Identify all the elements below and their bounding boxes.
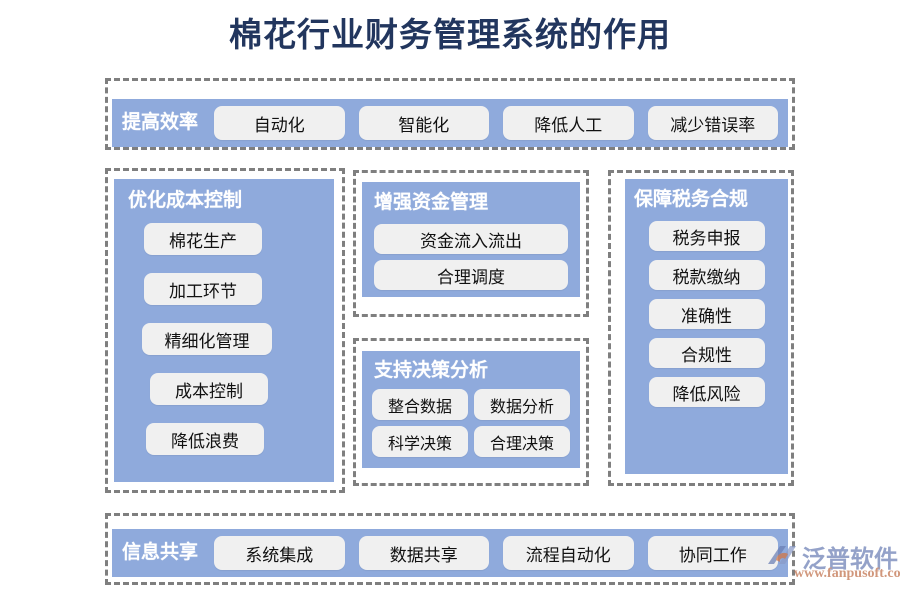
- brand-watermark: 泛普软件 www.fanpusoft.com: [766, 538, 896, 596]
- list-item[interactable]: 科学决策: [372, 426, 468, 457]
- list-item[interactable]: 降低浪费: [146, 423, 264, 455]
- brand-url: www.fanpusoft.com: [794, 566, 900, 582]
- list-item[interactable]: 资金流入流出: [374, 224, 568, 254]
- list-item[interactable]: 系统集成: [214, 536, 345, 570]
- section-heading-information-sharing: 信息共享: [122, 541, 198, 565]
- list-item[interactable]: 自动化: [214, 106, 345, 140]
- list-item[interactable]: 合规性: [649, 338, 765, 368]
- list-item[interactable]: 精细化管理: [142, 323, 272, 355]
- list-decision-analysis: 整合数据 数据分析 科学决策 合理决策: [372, 389, 570, 457]
- list-tax-compliance: 税务申报 税款缴纳 准确性 合规性 降低风险: [625, 221, 788, 407]
- list-item[interactable]: 税务申报: [649, 221, 765, 251]
- list-item[interactable]: 加工环节: [144, 273, 262, 305]
- list-item[interactable]: 准确性: [649, 299, 765, 329]
- section-information-sharing: 信息共享 系统集成 数据共享 流程自动化 协同工作: [112, 529, 788, 577]
- section-heading-tax-compliance: 保障税务合规: [634, 188, 748, 212]
- list-item[interactable]: 降低风险: [649, 377, 765, 407]
- list-item[interactable]: 合理调度: [374, 260, 568, 290]
- page-title: 棉花行业财务管理系统的作用: [0, 14, 900, 56]
- list-item[interactable]: 数据分析: [474, 389, 570, 420]
- section-fund-management: 增强资金管理 资金流入流出 合理调度: [362, 182, 580, 297]
- section-heading-fund-management: 增强资金管理: [374, 191, 488, 215]
- list-item[interactable]: 整合数据: [372, 389, 468, 420]
- list-item[interactable]: 税款缴纳: [649, 260, 765, 290]
- section-heading-efficiency: 提高效率: [122, 111, 198, 135]
- list-item[interactable]: 流程自动化: [503, 536, 634, 570]
- section-efficiency: 提高效率 自动化 智能化 降低人工 减少错误率: [112, 99, 788, 147]
- list-item[interactable]: 合理决策: [474, 426, 570, 457]
- section-decision-analysis: 支持决策分析 整合数据 数据分析 科学决策 合理决策: [362, 351, 580, 468]
- section-heading-decision-analysis: 支持决策分析: [374, 359, 488, 383]
- list-item[interactable]: 棉花生产: [144, 223, 262, 255]
- list-item[interactable]: 降低人工: [503, 106, 634, 140]
- list-cost-control: 棉花生产 加工环节 精细化管理 成本控制 降低浪费: [114, 223, 334, 455]
- section-cost-control: 优化成本控制 棉花生产 加工环节 精细化管理 成本控制 降低浪费: [114, 179, 334, 482]
- section-tax-compliance: 保障税务合规 税务申报 税款缴纳 准确性 合规性 降低风险: [625, 179, 788, 474]
- list-item[interactable]: 成本控制: [150, 373, 268, 405]
- list-item[interactable]: 数据共享: [359, 536, 490, 570]
- list-item[interactable]: 减少错误率: [648, 106, 779, 140]
- section-heading-cost-control: 优化成本控制: [128, 189, 242, 213]
- list-item[interactable]: 智能化: [359, 106, 490, 140]
- list-item[interactable]: 协同工作: [648, 536, 779, 570]
